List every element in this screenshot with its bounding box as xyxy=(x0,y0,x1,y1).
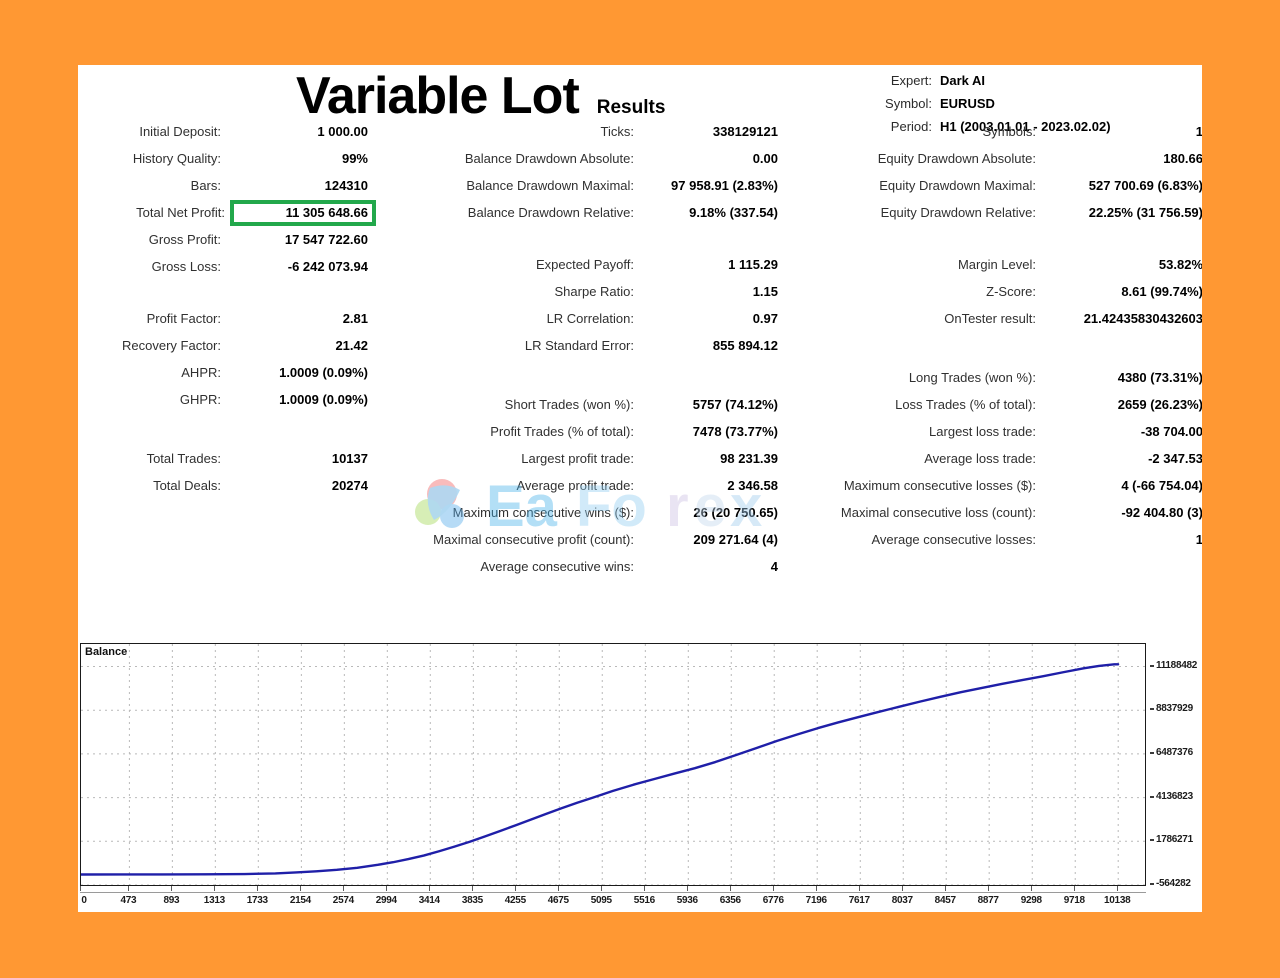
stat-value-profit-trades-of-total: 7478 (73.77%) xyxy=(643,425,778,438)
stat-label-recovery-factor: Recovery Factor: xyxy=(78,339,230,352)
stat-label-lr-correlation: LR Correlation: xyxy=(378,312,643,325)
stat-value-average-loss-trade: -2 347.53 xyxy=(1045,452,1202,465)
stat-label-total-deals: Total Deals: xyxy=(78,479,230,492)
stat-label-ticks: Ticks: xyxy=(378,125,643,138)
stat-label-average-consecutive-wins: Average consecutive wins: xyxy=(378,560,643,573)
x-axis-tick-label: 473 xyxy=(120,895,136,906)
x-axis-tick xyxy=(558,886,559,891)
stat-row-total-deals: Total Deals:20274 xyxy=(78,479,368,506)
x-axis-tick-label: 7617 xyxy=(849,895,870,906)
x-axis-tick xyxy=(429,886,430,891)
stat-row-profit-trades-of-total: Profit Trades (% of total):7478 (73.77%) xyxy=(378,425,778,452)
stat-row-history-quality: History Quality:99% xyxy=(78,152,368,179)
highlighted-stat-value-total-net-profit: 11 305 648.66 xyxy=(234,204,372,222)
stat-label-equity-drawdown-absolute: Equity Drawdown Absolute: xyxy=(788,152,1045,165)
x-axis-tick-label: 6356 xyxy=(720,895,741,906)
stat-label-largest-profit-trade: Largest profit trade: xyxy=(378,452,643,465)
chart-legend-label: Balance xyxy=(85,646,127,658)
stat-row-largest-profit-trade: Largest profit trade:98 231.39 xyxy=(378,452,778,479)
x-axis-tick-label: 10138 xyxy=(1104,895,1130,906)
x-axis-tick-label: 5516 xyxy=(634,895,655,906)
stat-row-largest-loss-trade: Largest loss trade:-38 704.00 xyxy=(788,425,1202,452)
stat-value-largest-profit-trade: 98 231.39 xyxy=(643,452,778,465)
x-axis-tick xyxy=(257,886,258,891)
stat-value-gross-profit: 17 547 722.60 xyxy=(230,233,368,246)
x-axis-tick-label: 1313 xyxy=(204,895,225,906)
stat-row-maximum-consecutive-losses: Maximum consecutive losses ($):4 (-66 75… xyxy=(788,479,1202,506)
stat-row-total-trades: Total Trades:10137 xyxy=(78,452,368,479)
x-axis-tick-label: 9298 xyxy=(1021,895,1042,906)
x-axis-tick xyxy=(171,886,172,891)
stat-row-average-consecutive-losses: Average consecutive losses:1 xyxy=(788,533,1202,560)
stat-label-gross-loss: Gross Loss: xyxy=(78,260,230,273)
x-axis-tick xyxy=(816,886,817,891)
stat-label-average-profit-trade: Average profit trade: xyxy=(378,479,643,492)
stat-row-equity-drawdown-absolute: Equity Drawdown Absolute:180.66 xyxy=(788,152,1202,179)
stat-label-ghpr: GHPR: xyxy=(78,393,230,406)
stat-label-equity-drawdown-maximal: Equity Drawdown Maximal: xyxy=(788,179,1045,192)
x-axis-tick-label: 1733 xyxy=(247,895,268,906)
x-axis-tick xyxy=(644,886,645,891)
stat-value-gross-loss: -6 242 073.94 xyxy=(230,260,368,273)
stat-row-z-score: Z-Score:8.61 (99.74%) xyxy=(788,285,1202,312)
stat-row-ghpr: GHPR:1.0009 (0.09%) xyxy=(78,393,368,420)
y-axis-tick xyxy=(1150,708,1154,710)
y-axis-tick xyxy=(1150,796,1154,798)
stats-column-right: Symbols:1Equity Drawdown Absolute:180.66… xyxy=(788,125,1202,560)
stat-value-symbols: 1 xyxy=(1045,125,1202,138)
stat-value-short-trades-won: 5757 (74.12%) xyxy=(643,398,778,411)
report-title-block: Variable Lot Results xyxy=(296,70,665,122)
stats-column-left: Initial Deposit:1 000.00History Quality:… xyxy=(78,125,368,506)
stat-row-balance-drawdown-maximal: Balance Drawdown Maximal:97 958.91 (2.83… xyxy=(378,179,778,206)
y-axis-tick-label: 11188482 xyxy=(1156,660,1197,671)
stat-row-lr-standard-error: LR Standard Error:855 894.12 xyxy=(378,339,778,366)
stat-label-maximal-consecutive-loss-count: Maximal consecutive loss (count): xyxy=(788,506,1045,519)
stat-label-maximal-consecutive-profit-count: Maximal consecutive profit (count): xyxy=(378,533,643,546)
page-title: Variable Lot xyxy=(296,70,579,122)
stat-value-bars: 124310 xyxy=(230,179,368,192)
x-axis-tick xyxy=(988,886,989,891)
stat-group-spacer xyxy=(378,366,778,398)
stat-label-total-net-profit: Total Net Profit: xyxy=(78,206,234,219)
stat-group-spacer xyxy=(378,233,778,258)
stat-label-long-trades-won: Long Trades (won %): xyxy=(788,371,1045,384)
stat-value-ticks: 338129121 xyxy=(643,125,778,138)
stat-value-equity-drawdown-relative: 22.25% (31 756.59) xyxy=(1045,206,1202,219)
x-axis-tick xyxy=(80,886,81,891)
stat-row-maximal-consecutive-profit-count: Maximal consecutive profit (count):209 2… xyxy=(378,533,778,560)
y-axis-tick-label: -564282 xyxy=(1156,878,1191,889)
stat-value-z-score: 8.61 (99.74%) xyxy=(1045,285,1202,298)
stat-value-maximal-consecutive-loss-count: -92 404.80 (3) xyxy=(1045,506,1202,519)
meta-value-expert: Dark AI xyxy=(940,73,985,88)
stat-label-history-quality: History Quality: xyxy=(78,152,230,165)
stat-value-equity-drawdown-absolute: 180.66 xyxy=(1045,152,1202,165)
x-axis-tick xyxy=(128,886,129,891)
x-axis-tick-label: 4675 xyxy=(548,895,569,906)
stat-value-average-profit-trade: 2 346.58 xyxy=(643,479,778,492)
stat-row-initial-deposit: Initial Deposit:1 000.00 xyxy=(78,125,368,152)
x-axis-tick xyxy=(773,886,774,891)
stat-row-long-trades-won: Long Trades (won %):4380 (73.31%) xyxy=(788,371,1202,398)
y-axis-tick xyxy=(1150,883,1154,885)
stat-row-equity-drawdown-maximal: Equity Drawdown Maximal:527 700.69 (6.83… xyxy=(788,179,1202,206)
stat-group-spacer xyxy=(78,420,368,452)
stat-row-margin-level: Margin Level:53.82% xyxy=(788,258,1202,285)
stat-value-largest-loss-trade: -38 704.00 xyxy=(1045,425,1202,438)
stat-value-maximum-consecutive-losses: 4 (-66 754.04) xyxy=(1045,479,1202,492)
stat-group-spacer xyxy=(788,233,1202,258)
x-axis-tick xyxy=(687,886,688,891)
stat-row-profit-factor: Profit Factor:2.81 xyxy=(78,312,368,339)
stat-label-maximum-consecutive-wins: Maximum consecutive wins ($): xyxy=(378,506,643,519)
chart-svg xyxy=(81,644,1145,885)
x-axis-tick xyxy=(730,886,731,891)
stat-row-total-net-profit: Total Net Profit:11 305 648.66 xyxy=(78,206,368,233)
stat-row-gross-profit: Gross Profit:17 547 722.60 xyxy=(78,233,368,260)
stat-value-loss-trades-of-total: 2659 (26.23%) xyxy=(1045,398,1202,411)
stat-label-margin-level: Margin Level: xyxy=(788,258,1045,271)
stat-label-average-consecutive-losses: Average consecutive losses: xyxy=(788,533,1045,546)
stat-value-recovery-factor: 21.42 xyxy=(230,339,368,352)
stat-row-bars: Bars:124310 xyxy=(78,179,368,206)
stat-label-balance-drawdown-maximal: Balance Drawdown Maximal: xyxy=(378,179,643,192)
x-axis-tick xyxy=(386,886,387,891)
balance-curve xyxy=(81,664,1118,874)
stat-label-ontester-result: OnTester result: xyxy=(788,312,1045,325)
x-axis-tick xyxy=(1031,886,1032,891)
stat-row-loss-trades-of-total: Loss Trades (% of total):2659 (26.23%) xyxy=(788,398,1202,425)
x-axis-tick xyxy=(601,886,602,891)
chart-x-axis: 0473893131317332154257429943414383542554… xyxy=(80,886,1146,911)
x-axis-tick-label: 8457 xyxy=(935,895,956,906)
x-axis-tick-label: 8037 xyxy=(892,895,913,906)
chart-plot-area: Balance xyxy=(80,643,1146,886)
stat-row-balance-drawdown-relative: Balance Drawdown Relative:9.18% (337.54) xyxy=(378,206,778,233)
x-axis-tick-label: 2154 xyxy=(290,895,311,906)
stat-value-maximal-consecutive-profit-count: 209 271.64 (4) xyxy=(643,533,778,546)
x-axis-tick-label: 7196 xyxy=(806,895,827,906)
x-axis-tick-label: 6776 xyxy=(763,895,784,906)
stat-label-profit-factor: Profit Factor: xyxy=(78,312,230,325)
x-axis-tick-label: 4255 xyxy=(505,895,526,906)
stat-group-spacer xyxy=(788,339,1202,371)
stat-row-short-trades-won: Short Trades (won %):5757 (74.12%) xyxy=(378,398,778,425)
x-axis-tick xyxy=(343,886,344,891)
backtest-report-panel: Variable Lot Results Expert: Dark AI Sym… xyxy=(78,65,1202,912)
stat-row-balance-drawdown-absolute: Balance Drawdown Absolute:0.00 xyxy=(378,152,778,179)
y-axis-tick-label: 1786271 xyxy=(1156,834,1193,845)
y-axis-tick-label: 6487376 xyxy=(1156,747,1193,758)
stat-label-balance-drawdown-absolute: Balance Drawdown Absolute: xyxy=(378,152,643,165)
y-axis-tick xyxy=(1150,752,1154,754)
stat-label-expected-payoff: Expected Payoff: xyxy=(378,258,643,271)
stat-label-symbols: Symbols: xyxy=(788,125,1045,138)
stat-row-ontester-result: OnTester result:21.42435830432603 xyxy=(788,312,1202,339)
stat-label-total-trades: Total Trades: xyxy=(78,452,230,465)
y-axis-tick-label: 8837929 xyxy=(1156,703,1193,714)
stat-label-equity-drawdown-relative: Equity Drawdown Relative: xyxy=(788,206,1045,219)
x-axis-tick-label: 2994 xyxy=(376,895,397,906)
stat-value-margin-level: 53.82% xyxy=(1045,258,1202,271)
stat-row-maximal-consecutive-loss-count: Maximal consecutive loss (count):-92 404… xyxy=(788,506,1202,533)
stat-row-average-profit-trade: Average profit trade:2 346.58 xyxy=(378,479,778,506)
x-axis-tick-label: 3835 xyxy=(462,895,483,906)
stat-label-largest-loss-trade: Largest loss trade: xyxy=(788,425,1045,438)
stat-value-equity-drawdown-maximal: 527 700.69 (6.83%) xyxy=(1045,179,1202,192)
x-axis-tick xyxy=(472,886,473,891)
y-axis-tick-label: 4136823 xyxy=(1156,791,1193,802)
stat-label-bars: Bars: xyxy=(78,179,230,192)
stat-row-maximum-consecutive-wins: Maximum consecutive wins ($):26 (20 750.… xyxy=(378,506,778,533)
stat-value-total-trades: 10137 xyxy=(230,452,368,465)
stat-label-lr-standard-error: LR Standard Error: xyxy=(378,339,643,352)
stat-value-maximum-consecutive-wins: 26 (20 750.65) xyxy=(643,506,778,519)
x-axis-tick-label: 9718 xyxy=(1064,895,1085,906)
balance-chart: Balance 11188482883792964873764136823178… xyxy=(78,643,1202,911)
stat-row-average-consecutive-wins: Average consecutive wins:4 xyxy=(378,560,778,587)
x-axis-tick-label: 5095 xyxy=(591,895,612,906)
stat-row-lr-correlation: LR Correlation:0.97 xyxy=(378,312,778,339)
stat-value-ahpr: 1.0009 (0.09%) xyxy=(230,366,368,379)
stat-label-sharpe-ratio: Sharpe Ratio: xyxy=(378,285,643,298)
x-axis-line xyxy=(80,886,1146,893)
stat-row-recovery-factor: Recovery Factor:21.42 xyxy=(78,339,368,366)
stats-column-middle: Ticks:338129121Balance Drawdown Absolute… xyxy=(378,125,778,587)
meta-label-symbol: Symbol: xyxy=(848,96,940,111)
x-axis-tick xyxy=(515,886,516,891)
stat-value-expected-payoff: 1 115.29 xyxy=(643,258,778,271)
stat-row-symbols: Symbols:1 xyxy=(788,125,1202,152)
x-axis-tick-label: 893 xyxy=(163,895,179,906)
stat-label-balance-drawdown-relative: Balance Drawdown Relative: xyxy=(378,206,643,219)
stat-value-total-deals: 20274 xyxy=(230,479,368,492)
stat-row-equity-drawdown-relative: Equity Drawdown Relative:22.25% (31 756.… xyxy=(788,206,1202,233)
stat-label-z-score: Z-Score: xyxy=(788,285,1045,298)
stat-value-long-trades-won: 4380 (73.31%) xyxy=(1045,371,1202,384)
stat-value-balance-drawdown-relative: 9.18% (337.54) xyxy=(643,206,778,219)
stat-row-expected-payoff: Expected Payoff:1 115.29 xyxy=(378,258,778,285)
stat-value-profit-factor: 2.81 xyxy=(230,312,368,325)
stat-value-initial-deposit: 1 000.00 xyxy=(230,125,368,138)
x-axis-tick xyxy=(1117,886,1118,891)
x-axis-tick xyxy=(1074,886,1075,891)
meta-label-expert: Expert: xyxy=(848,73,940,88)
stat-label-initial-deposit: Initial Deposit: xyxy=(78,125,230,138)
stat-label-profit-trades-of-total: Profit Trades (% of total): xyxy=(378,425,643,438)
results-label: Results xyxy=(597,97,666,119)
stat-label-average-loss-trade: Average loss trade: xyxy=(788,452,1045,465)
stat-row-ticks: Ticks:338129121 xyxy=(378,125,778,152)
x-axis-tick xyxy=(859,886,860,891)
stat-row-sharpe-ratio: Sharpe Ratio:1.15 xyxy=(378,285,778,312)
y-axis-tick xyxy=(1150,665,1154,667)
stat-value-ontester-result: 21.42435830432603 xyxy=(1045,312,1202,325)
stat-group-spacer xyxy=(78,287,368,312)
stat-value-average-consecutive-losses: 1 xyxy=(1045,533,1202,546)
x-axis-tick xyxy=(902,886,903,891)
stat-label-ahpr: AHPR: xyxy=(78,366,230,379)
meta-value-symbol: EURUSD xyxy=(940,96,995,111)
x-axis-tick xyxy=(945,886,946,891)
stat-row-ahpr: AHPR:1.0009 (0.09%) xyxy=(78,366,368,393)
stat-value-ghpr: 1.0009 (0.09%) xyxy=(230,393,368,406)
x-axis-tick xyxy=(214,886,215,891)
stat-value-sharpe-ratio: 1.15 xyxy=(643,285,778,298)
stat-label-loss-trades-of-total: Loss Trades (% of total): xyxy=(788,398,1045,411)
stat-row-average-loss-trade: Average loss trade:-2 347.53 xyxy=(788,452,1202,479)
stat-row-gross-loss: Gross Loss:-6 242 073.94 xyxy=(78,260,368,287)
x-axis-tick-label: 3414 xyxy=(419,895,440,906)
stat-label-short-trades-won: Short Trades (won %): xyxy=(378,398,643,411)
stat-value-average-consecutive-wins: 4 xyxy=(643,560,778,573)
stat-value-lr-correlation: 0.97 xyxy=(643,312,778,325)
meta-row-symbol: Symbol: EURUSD xyxy=(848,96,1188,111)
stat-label-maximum-consecutive-losses: Maximum consecutive losses ($): xyxy=(788,479,1045,492)
y-axis-tick xyxy=(1150,839,1154,841)
stat-value-balance-drawdown-maximal: 97 958.91 (2.83%) xyxy=(643,179,778,192)
x-axis-tick xyxy=(300,886,301,891)
stat-value-history-quality: 99% xyxy=(230,152,368,165)
x-axis-tick-label: 2574 xyxy=(333,895,354,906)
meta-row-expert: Expert: Dark AI xyxy=(848,73,1188,88)
x-axis-tick-label: 8877 xyxy=(978,895,999,906)
stat-value-balance-drawdown-absolute: 0.00 xyxy=(643,152,778,165)
stat-value-lr-standard-error: 855 894.12 xyxy=(643,339,778,352)
stat-label-gross-profit: Gross Profit: xyxy=(78,233,230,246)
x-axis-tick-label: 0 xyxy=(81,895,86,906)
x-axis-tick-label: 5936 xyxy=(677,895,698,906)
chart-y-axis: 111884828837929648737641368231786271-564… xyxy=(1150,643,1202,886)
